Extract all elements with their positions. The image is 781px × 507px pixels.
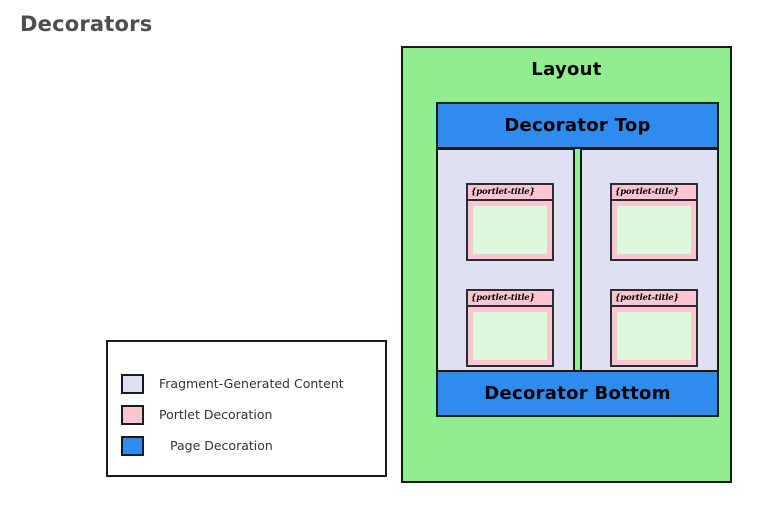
decorator-top-bar: Decorator Top (436, 102, 719, 149)
decorator-bottom-label: Decorator Bottom (484, 383, 671, 404)
portlet: {portlet-title} (466, 289, 554, 367)
portlet-title: {portlet-title} (612, 185, 696, 201)
legend-item-page-decoration: Page Decoration (121, 430, 379, 461)
portlet-title: {portlet-title} (468, 185, 552, 201)
portlet: {portlet-title} (610, 183, 698, 261)
decorator-top-label: Decorator Top (504, 115, 650, 136)
page-decoration-stack: Decorator Top {portlet-title} {portlet-t… (436, 102, 719, 417)
portlet-body (473, 312, 547, 360)
layout-container: Layout Decorator Top {portlet-title} {po… (401, 46, 732, 483)
right-column: {portlet-title} {portlet-title} (580, 148, 719, 372)
page-decoration-swatch (121, 436, 144, 456)
portlet-body (473, 206, 547, 254)
portlet-title: {portlet-title} (468, 291, 552, 307)
left-column: {portlet-title} {portlet-title} (436, 148, 575, 372)
portlet: {portlet-title} (466, 183, 554, 261)
portlet-body (617, 312, 691, 360)
legend-item-fragment-generated-content: Fragment-Generated Content (121, 368, 379, 399)
portlet: {portlet-title} (610, 289, 698, 367)
layout-title: Layout (403, 59, 730, 80)
page-title: Decorators (20, 12, 152, 36)
portlet-decoration-swatch (121, 405, 144, 425)
legend-item-portlet-decoration: Portlet Decoration (121, 399, 379, 430)
portlet-title: {portlet-title} (612, 291, 696, 307)
legend: Fragment-Generated Content Portlet Decor… (106, 340, 387, 477)
fragment-generated-content-swatch (121, 374, 144, 394)
legend-item-label: Page Decoration (170, 438, 273, 453)
columns-wrap: {portlet-title} {portlet-title} {portlet… (436, 148, 719, 372)
portlet-body (617, 206, 691, 254)
decorator-bottom-bar: Decorator Bottom (436, 370, 719, 417)
legend-item-label: Portlet Decoration (159, 407, 272, 422)
legend-item-list: Fragment-Generated Content Portlet Decor… (121, 368, 379, 461)
legend-item-label: Fragment-Generated Content (159, 376, 344, 391)
